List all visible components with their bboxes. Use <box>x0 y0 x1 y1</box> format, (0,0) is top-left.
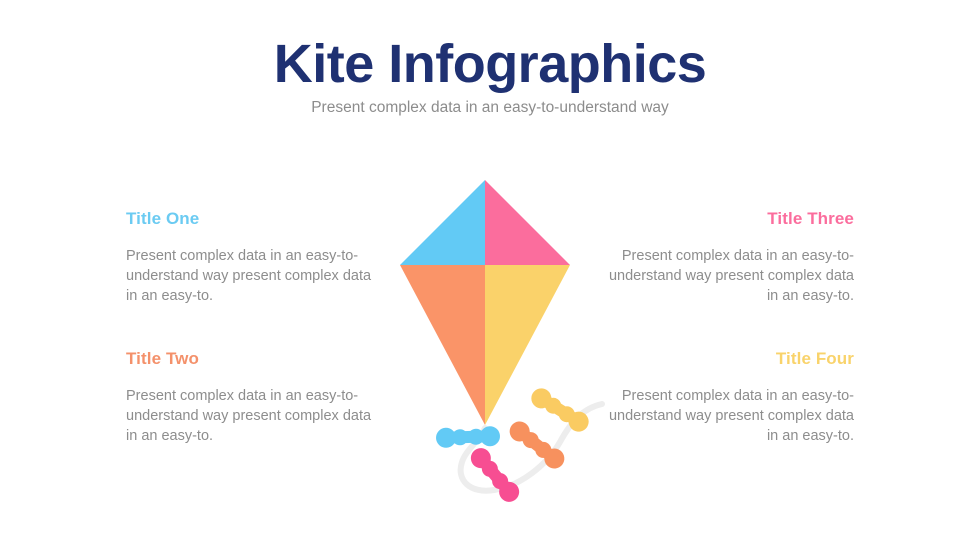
tail-bow-pink <box>467 444 523 506</box>
slide-canvas: Kite Infographics Present complex data i… <box>0 0 980 551</box>
kite-body <box>400 180 570 425</box>
kite-panel-top-left <box>400 180 485 265</box>
info-block-body-three: Present complex data in an easy-to-under… <box>608 246 854 306</box>
info-block-heading-one: Title One <box>126 208 372 230</box>
info-block-title-four: Title Four Present complex data in an ea… <box>608 348 854 446</box>
kite-panel-bottom-left <box>400 265 485 425</box>
info-block-heading-four: Title Four <box>608 348 854 370</box>
info-block-body-four: Present complex data in an easy-to-under… <box>608 386 854 446</box>
info-block-heading-two: Title Two <box>126 348 372 370</box>
tail-bow-blue <box>436 426 501 448</box>
page-subtitle: Present complex data in an easy-to-under… <box>0 98 980 118</box>
info-block-body-one: Present complex data in an easy-to-under… <box>126 246 372 306</box>
header: Kite Infographics Present complex data i… <box>0 34 980 118</box>
info-block-body-two: Present complex data in an easy-to-under… <box>126 386 372 446</box>
info-block-title-three: Title Three Present complex data in an e… <box>608 208 854 306</box>
kite-panel-top-right <box>485 180 570 265</box>
info-block-title-two: Title Two Present complex data in an eas… <box>126 348 372 446</box>
kite-illustration <box>370 160 620 510</box>
page-title: Kite Infographics <box>0 34 980 94</box>
info-block-heading-three: Title Three <box>608 208 854 230</box>
info-block-title-one: Title One Present complex data in an eas… <box>126 208 372 306</box>
